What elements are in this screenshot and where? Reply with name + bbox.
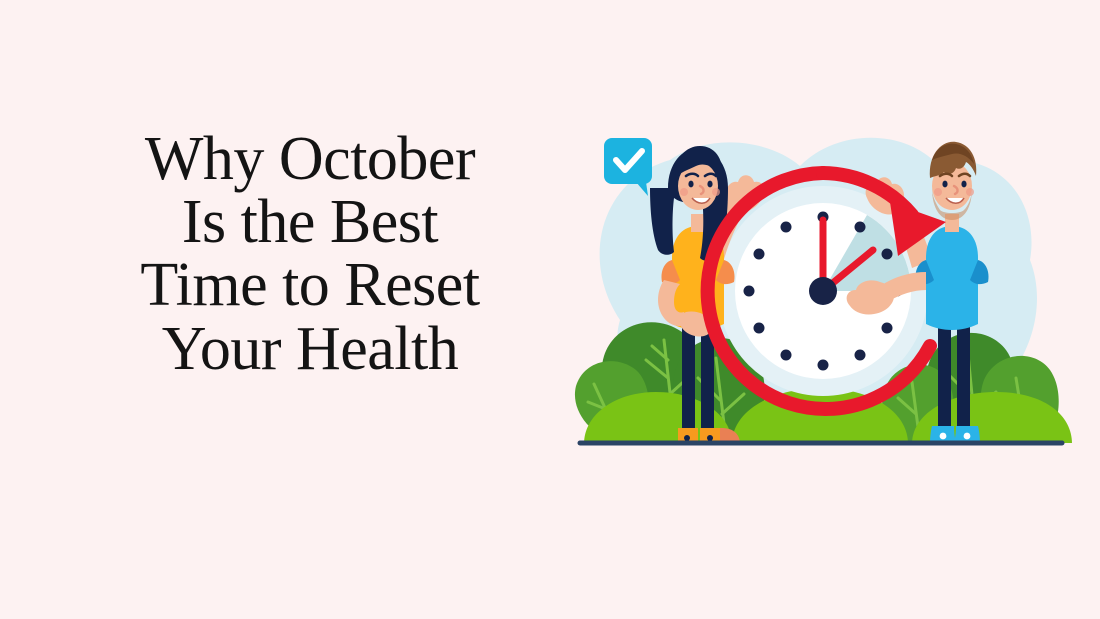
check-bubble (604, 138, 652, 184)
woman-eye-left (688, 181, 693, 188)
title-line-1: Why October (60, 128, 560, 191)
woman-leg-left (682, 322, 695, 440)
woman-eye-right (707, 181, 712, 188)
foliage-bushes (584, 388, 1072, 444)
woman-neck (691, 214, 705, 232)
page-title: Why October Is the Best Time to Reset Yo… (60, 128, 560, 381)
title-line-3: Time to Reset (60, 254, 560, 317)
title-line-2: Is the Best (60, 191, 560, 254)
man-leg-right (957, 322, 970, 440)
poster-canvas: Why October Is the Best Time to Reset Yo… (0, 0, 1100, 619)
clock-center-hub (809, 277, 837, 305)
man-leg-left (938, 322, 951, 440)
title-line-4: Your Health (60, 318, 560, 381)
man-eye-right (961, 181, 966, 188)
man-shirt (926, 226, 978, 330)
man-eye-left (942, 181, 947, 188)
time-reset-illustration (560, 110, 1080, 460)
